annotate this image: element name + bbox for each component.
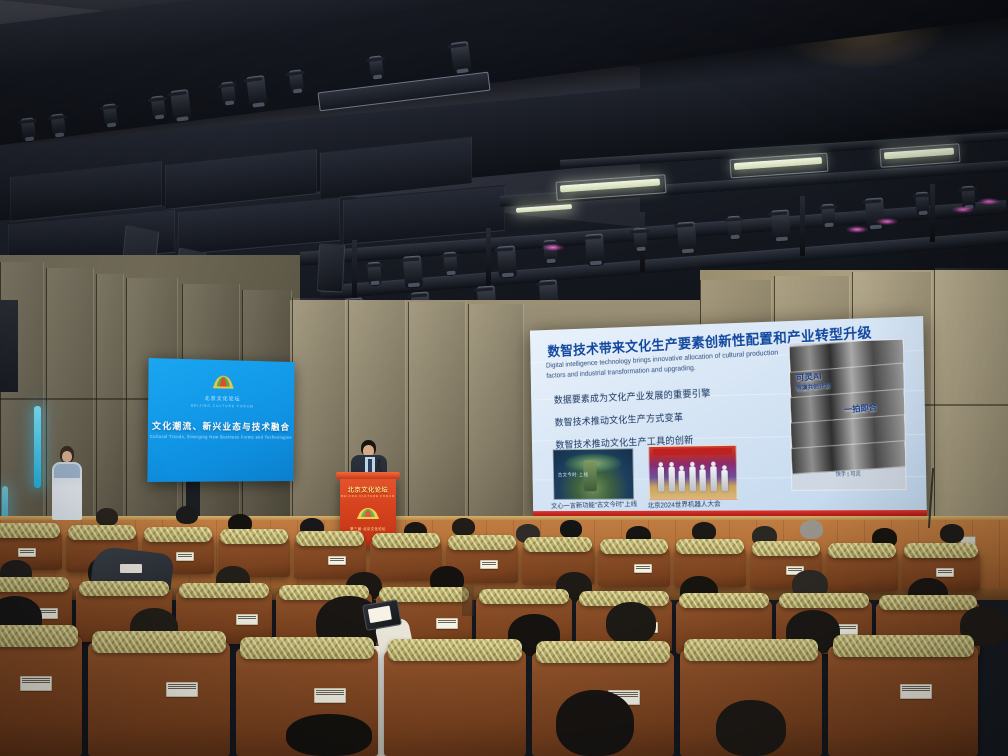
forum-logo-icon (210, 374, 235, 394)
slide-image-robot-conference (648, 445, 737, 501)
seat[interactable] (384, 650, 526, 756)
stage-spotlight (585, 233, 605, 266)
stage-spotlight (403, 255, 423, 288)
stage-spotlight (369, 55, 385, 80)
wall-recess (0, 300, 18, 392)
seat-number-tag (328, 556, 346, 565)
audience-head (286, 714, 372, 756)
stage-spotlight (821, 204, 836, 229)
audience-head (560, 520, 582, 538)
stage-spotlight (103, 103, 119, 128)
slide-bullet-1: 数据要素成为文化产业发展的重要引擎 (554, 385, 711, 407)
seat-number-tag (166, 682, 198, 697)
stage-spotlight (865, 197, 885, 230)
stage-spotlight (289, 69, 305, 94)
aisle-gap (462, 586, 474, 616)
stage-spotlight (170, 89, 192, 123)
main-projection-screen[interactable]: 数智技术带来文化生产要素创新性配置和产业转型升级 Digital intelli… (530, 316, 927, 517)
stage-spotlight (497, 245, 517, 278)
side-screen-brand-en: BEIJING CULTURE FORUM (191, 404, 254, 409)
side-display-screen[interactable]: 北京文化论坛 BEIJING CULTURE FORUM 文化潮流、新兴业态与技… (147, 358, 294, 482)
stage-spotlight (246, 75, 268, 109)
seat[interactable] (828, 646, 978, 756)
stage-spotlight (443, 252, 458, 277)
side-screen-brand-zh: 北京文化论坛 (205, 395, 241, 402)
led-wash-glow (876, 218, 898, 225)
stage-spotlight (367, 262, 382, 287)
audience-head (96, 508, 118, 526)
podium-title-zh: 北京文化论坛 (340, 485, 396, 494)
audience-head (606, 602, 656, 644)
stage-spotlight (633, 228, 648, 253)
seat-number-tag (236, 614, 258, 625)
audience-head (556, 690, 634, 756)
seat[interactable] (826, 550, 898, 591)
side-screen-title-zh: 文化潮流、新兴业态与技术融合 (152, 418, 290, 433)
audience-head (452, 518, 475, 536)
audience-head (716, 700, 786, 756)
led-accent-strip (34, 406, 41, 488)
seat[interactable] (88, 642, 230, 756)
seat-number-tag (480, 560, 498, 569)
seat-number-tag (20, 676, 52, 691)
stage-spotlight (21, 117, 37, 142)
seat-number-tag (436, 618, 458, 629)
podium-emblem-icon (355, 507, 381, 522)
truss-leg (486, 228, 491, 286)
tree-image-overlay-text: 古文今时·上线 (558, 471, 589, 478)
podium-top (336, 472, 400, 479)
slide-bullet-2: 数智技术推动文化生产方式变革 (554, 408, 711, 429)
seat-number-tag (18, 548, 36, 557)
stage-spotlight (727, 216, 742, 241)
acoustic-panel (934, 268, 1008, 524)
stage-spotlight (771, 209, 791, 242)
audience-head (940, 524, 964, 543)
seat-number-tag (900, 684, 932, 699)
stage-spotlight (51, 113, 67, 138)
truss-leg (352, 240, 357, 298)
slide-image-kling-ai-collage: 可灵AI 导演共创计划 一拍即合 快手 | 可灵 (789, 339, 907, 491)
line-array-speaker (317, 243, 345, 292)
slide-image-ancient-tree: 古文今时·上线 (553, 448, 634, 500)
acoustic-panel (468, 304, 524, 548)
seat-number-tag (634, 564, 652, 573)
podium-title-en: BEIJING CULTURE FORUM (340, 494, 396, 498)
slide-caption-1: 文心一言新功能“古文今时”上线 (551, 499, 637, 511)
kling-ai-logo-line: 快手 | 可灵 (792, 469, 906, 478)
seat-number-tag (314, 688, 346, 703)
seat-number-tag (936, 568, 954, 577)
acoustic-panel (292, 298, 346, 548)
stage-spotlight (221, 81, 237, 106)
stage-spotlight (677, 221, 697, 254)
stage-spotlight (151, 95, 167, 120)
side-screen-title-en: Cultural Trends, Emerging New Business F… (150, 434, 292, 440)
truss-leg (800, 196, 805, 256)
stage-spotlight (915, 192, 930, 217)
acoustic-panel (408, 302, 466, 548)
led-wash-glow (978, 198, 1000, 205)
audience-head (176, 506, 198, 524)
led-wash-glow (846, 226, 868, 233)
slide-caption-2: 北京2024世界机器人大会 (647, 499, 720, 510)
name-badge (120, 564, 142, 573)
audience-head (800, 520, 823, 539)
seat[interactable] (0, 636, 82, 756)
led-wash-glow (542, 244, 564, 251)
stage-spotlight (450, 41, 472, 75)
auditorium-photo: 北京文化论坛 BEIJING CULTURE FORUM 文化潮流、新兴业态与技… (0, 0, 1008, 756)
led-wash-glow (952, 206, 974, 213)
seat-number-tag (176, 552, 194, 561)
